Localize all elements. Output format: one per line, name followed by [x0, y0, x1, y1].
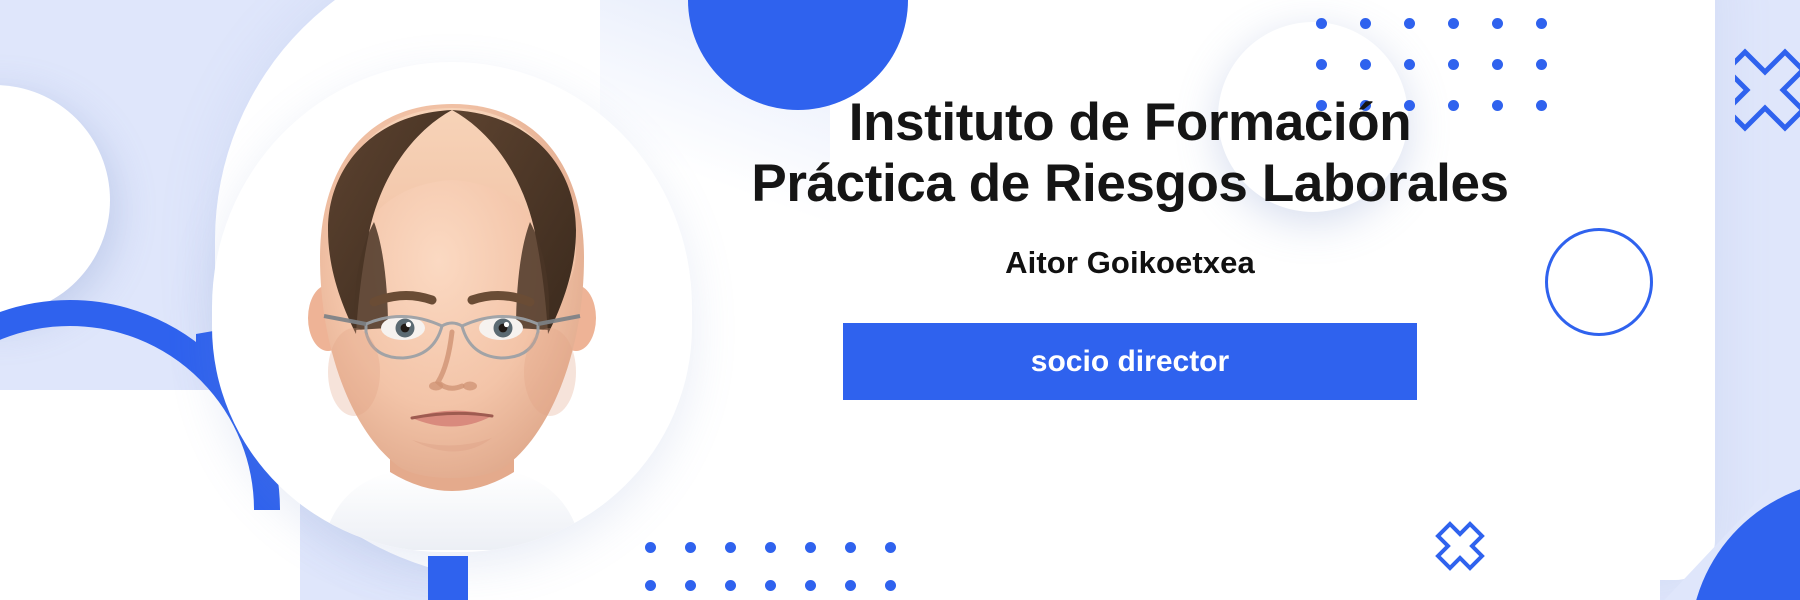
dot-icon: [765, 580, 776, 591]
dot-icon: [1448, 18, 1459, 29]
role-button[interactable]: socio director: [843, 323, 1417, 400]
dot-icon: [1316, 59, 1327, 70]
dot-icon: [885, 580, 896, 591]
decorative-ring-outline-right: [1545, 228, 1653, 336]
dot-icon: [845, 580, 856, 591]
dot-icon: [685, 542, 696, 553]
dot-icon: [1536, 59, 1547, 70]
dot-icon: [645, 580, 656, 591]
dot-icon: [1492, 18, 1503, 29]
dot-grid-bottom: [645, 542, 925, 600]
portrait-image: [262, 80, 642, 550]
dot-icon: [685, 580, 696, 591]
person-name: Aitor Goikoetxea: [700, 245, 1560, 281]
decorative-square-bottom: [428, 556, 468, 600]
title-line-1: Instituto de Formación: [849, 93, 1411, 152]
dot-icon: [765, 542, 776, 553]
dot-icon: [1404, 59, 1415, 70]
dot-icon: [885, 542, 896, 553]
dot-icon: [1316, 18, 1327, 29]
dot-icon: [725, 542, 736, 553]
cross-icon: [1432, 518, 1488, 579]
dot-icon: [1360, 59, 1371, 70]
dot-icon: [805, 580, 816, 591]
dot-icon: [805, 542, 816, 553]
page-title: Instituto de FormaciónPráctica de Riesgo…: [700, 92, 1560, 215]
dot-icon: [1536, 18, 1547, 29]
title-line-2: Práctica de Riesgos Laborales: [751, 154, 1508, 213]
dot-icon: [1492, 59, 1503, 70]
dot-icon: [645, 542, 656, 553]
dot-icon: [725, 580, 736, 591]
dot-icon: [1404, 18, 1415, 29]
avatar: [212, 62, 692, 552]
banner-content: Instituto de FormaciónPráctica de Riesgo…: [700, 92, 1560, 400]
cross-icon: [1735, 38, 1800, 139]
dot-icon: [845, 542, 856, 553]
dot-icon: [1448, 59, 1459, 70]
profile-banner: Instituto de FormaciónPráctica de Riesgo…: [0, 0, 1800, 600]
dot-icon: [1360, 18, 1371, 29]
